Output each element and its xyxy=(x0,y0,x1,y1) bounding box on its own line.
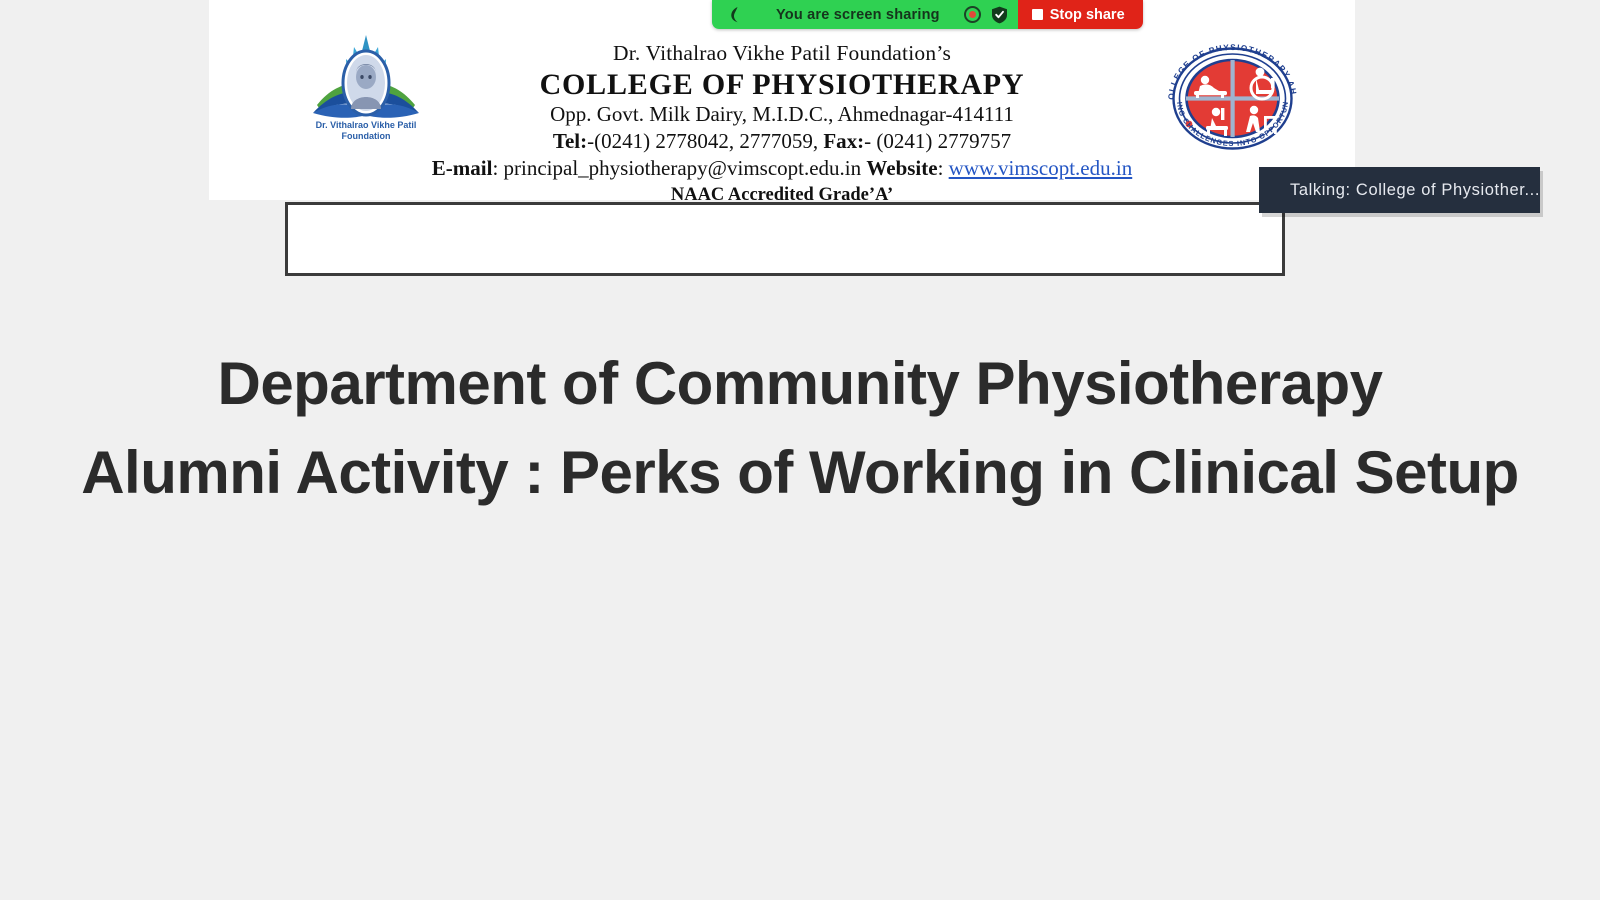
content-placeholder-box xyxy=(285,202,1285,276)
share-banner-left: You are screen sharing xyxy=(712,0,1018,29)
email-label: E-mail xyxy=(432,156,493,180)
stop-share-button[interactable]: Stop share xyxy=(1018,0,1143,29)
shield-check-icon[interactable] xyxy=(991,6,1008,24)
fax-value: - (0241) 2779757 xyxy=(864,129,1011,153)
bolt-icon xyxy=(728,7,742,23)
email-value: : principal_physiotherapy@vimscopt.edu.i… xyxy=(492,156,866,180)
foundation-line: Dr. Vithalrao Vikhe Patil Foundation’s xyxy=(209,40,1355,68)
share-status-text: You are screen sharing xyxy=(752,7,954,23)
website-separator: : xyxy=(938,156,949,180)
talking-indicator-tooltip: Talking: College of Physiother... xyxy=(1259,167,1540,213)
record-icon[interactable] xyxy=(964,6,981,23)
screen-sharing-banner: You are screen sharing Stop share xyxy=(712,0,1143,29)
slide-title-line-2: Alumni Activity : Perks of Working in Cl… xyxy=(60,429,1540,518)
slide-letterhead: Dr. Vithalrao Vikhe Patil Foundation xyxy=(209,0,1355,200)
talking-indicator-text: Talking: College of Physiother... xyxy=(1290,181,1540,200)
stop-square-icon xyxy=(1032,9,1043,20)
website-label: Website xyxy=(866,156,937,180)
letterhead-text-block: Dr. Vithalrao Vikhe Patil Foundation’s C… xyxy=(209,40,1355,207)
fax-label: Fax: xyxy=(823,129,864,153)
website-link[interactable]: www.vimscopt.edu.in xyxy=(949,156,1133,180)
slide-title-line-1: Department of Community Physiotherapy xyxy=(60,340,1540,429)
tel-value: -(0241) 2778042, 2777059, xyxy=(587,129,823,153)
address-line: Opp. Govt. Milk Dairy, M.I.D.C., Ahmedna… xyxy=(209,101,1355,128)
tel-label: Tel: xyxy=(553,129,587,153)
stop-share-label: Stop share xyxy=(1050,7,1125,23)
slide-title: Department of Community Physiotherapy Al… xyxy=(60,340,1540,518)
phone-line: Tel:-(0241) 2778042, 2777059, Fax:- (024… xyxy=(209,128,1355,155)
college-name: COLLEGE OF PHYSIOTHERAPY xyxy=(209,68,1355,102)
email-website-line: E-mail: principal_physiotherapy@vimscopt… xyxy=(209,155,1355,182)
